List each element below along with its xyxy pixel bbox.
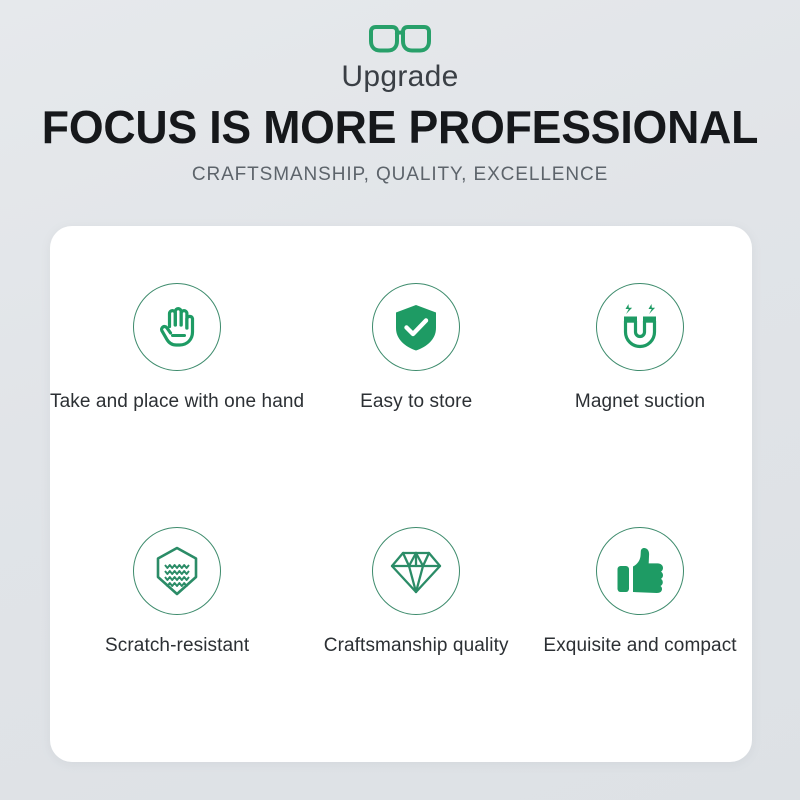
- feature-item-exquisite-and-compact: Exquisite and compact: [528, 527, 752, 658]
- shield-waves-icon: [153, 545, 201, 597]
- feature-label: Craftsmanship quality: [324, 635, 509, 658]
- icon-circle: [596, 527, 684, 615]
- header: Upgrade FOCUS IS MORE PROFESSIONAL CRAFT…: [0, 0, 800, 186]
- feature-label: Scratch-resistant: [105, 635, 249, 658]
- magnet-icon: [616, 302, 664, 352]
- diamond-icon: [389, 546, 443, 596]
- features-card: Take and place with one hand Easy to sto…: [50, 226, 752, 762]
- feature-item-take-and-place: Take and place with one hand: [50, 283, 304, 414]
- feature-label: Magnet suction: [575, 391, 705, 414]
- icon-circle: [372, 527, 460, 615]
- glasses-icon: [0, 22, 800, 56]
- icon-circle: [133, 527, 221, 615]
- icon-circle: [133, 283, 221, 371]
- feature-item-scratch-resistant: Scratch-resistant: [50, 527, 304, 658]
- shield-check-icon: [391, 301, 441, 353]
- feature-label: Easy to store: [360, 391, 472, 414]
- icon-circle: [596, 283, 684, 371]
- features-grid: Take and place with one hand Easy to sto…: [50, 226, 752, 762]
- feature-label: Take and place with one hand: [50, 391, 304, 414]
- eyebrow-text: Upgrade: [0, 60, 800, 93]
- icon-circle: [372, 283, 460, 371]
- feature-item-easy-to-store: Easy to store: [304, 283, 528, 414]
- page-title: FOCUS IS MORE PROFESSIONAL: [12, 104, 788, 150]
- hand-icon: [151, 301, 203, 353]
- feature-item-craftsmanship-quality: Craftsmanship quality: [304, 527, 528, 658]
- thumbs-up-icon: [614, 545, 666, 597]
- feature-item-magnet-suction: Magnet suction: [528, 283, 752, 414]
- infographic-page: Upgrade FOCUS IS MORE PROFESSIONAL CRAFT…: [0, 0, 800, 800]
- feature-label: Exquisite and compact: [543, 635, 736, 658]
- page-subtitle: CRAFTSMANSHIP, QUALITY, EXCELLENCE: [0, 165, 800, 186]
